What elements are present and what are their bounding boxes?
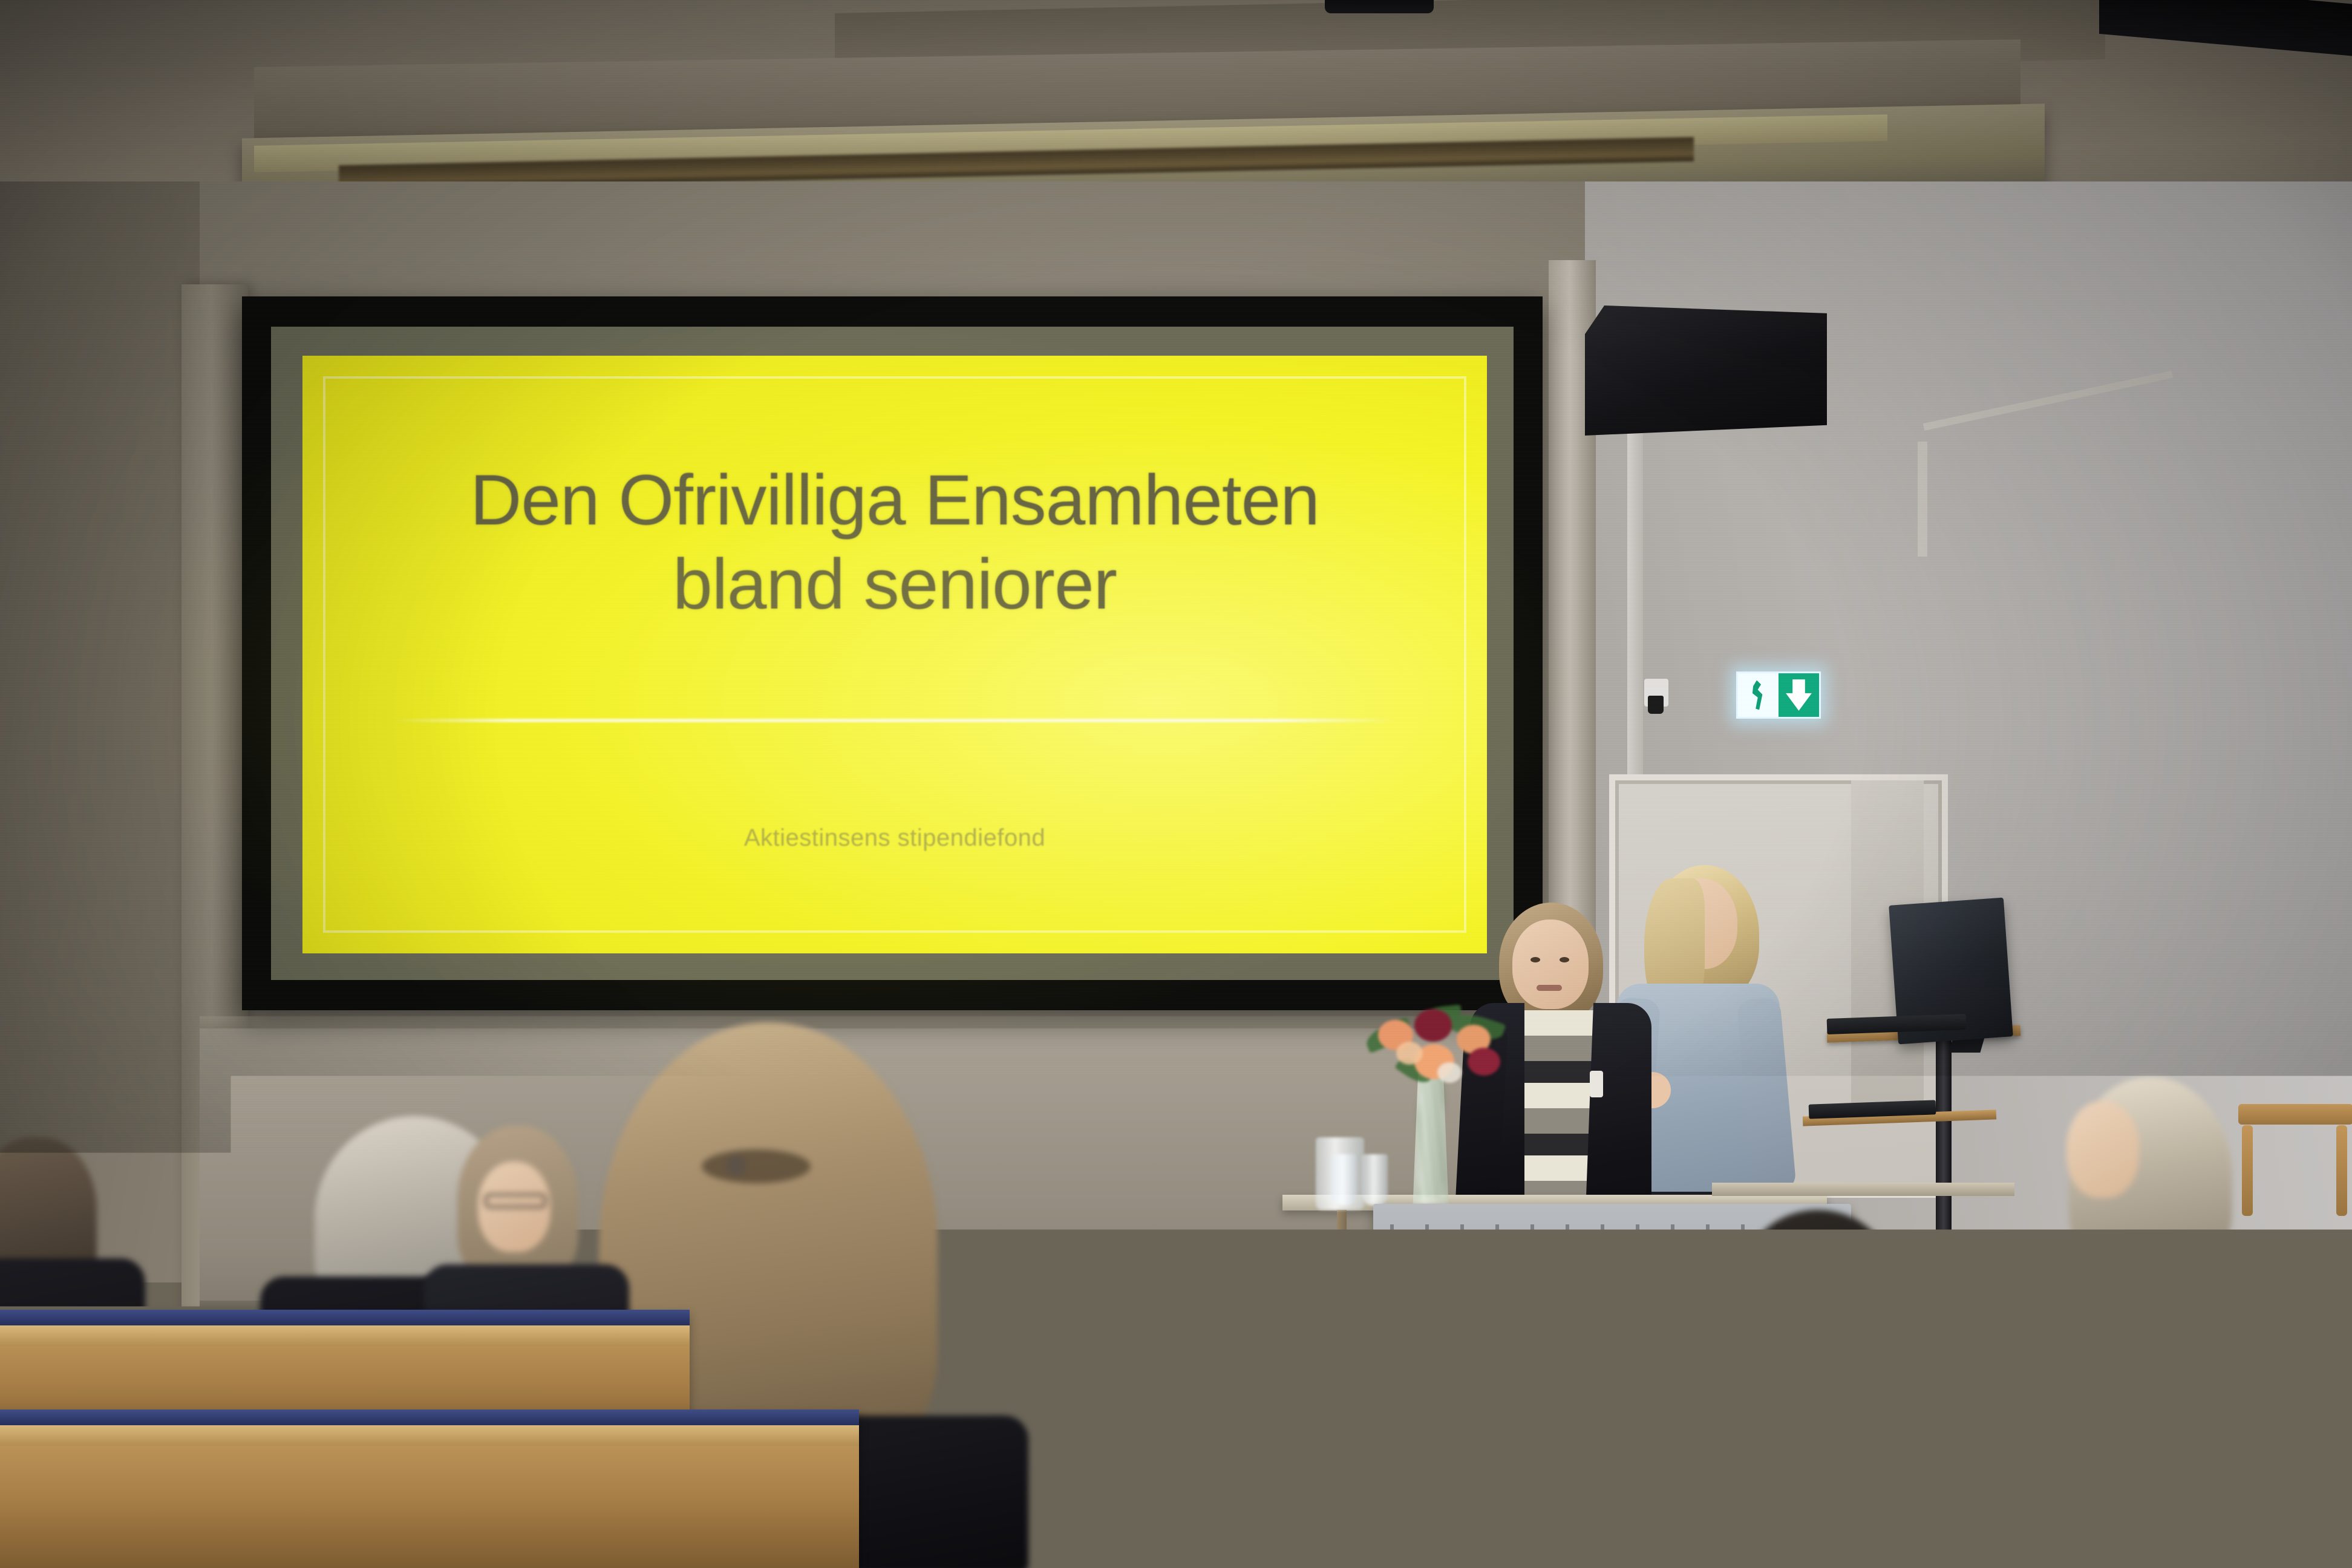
wall-outlet-icon [1644,679,1668,707]
drinking-glass[interactable] [1362,1154,1388,1205]
side-table [1712,1183,2014,1196]
projection-screen: Den Ofrivilliga Ensamheten bland seniore… [242,296,1543,1010]
presenter-left-mouth [1537,985,1562,991]
bench-rail [1561,1289,2352,1304]
wooden-chair-leg [2242,1125,2253,1216]
hair-clip-icon [726,1155,746,1176]
bench-row[interactable] [1645,1440,2352,1568]
emergency-exit-sign [1736,671,1821,719]
bench-rail [0,1310,690,1325]
slide-title-line-1: Den Ofrivilliga Ensamheten [430,459,1360,543]
bench-row[interactable] [363,1452,1174,1568]
wall-speaker [1585,305,1827,436]
wooden-chair-leg [2336,1125,2347,1216]
bench-wood [1561,1304,2352,1325]
bench-wood [363,1468,1174,1488]
presenter-left-eye [1530,957,1540,962]
presentation-slide: Den Ofrivilliga Ensamheten bland seniore… [302,356,1487,953]
glasses-icon [484,1193,547,1209]
exit-sign-arrow-pane [1779,673,1819,717]
slide-title: Den Ofrivilliga Ensamheten bland seniore… [302,459,1487,627]
wall-bracket [1918,442,1927,557]
bench-wood [1645,1455,2352,1476]
slide-title-line-2: bland seniorer [430,543,1360,627]
bench-rail [1603,1361,2352,1377]
drinking-glass[interactable] [1331,1154,1356,1205]
presenter-left-badge [1590,1071,1603,1097]
screen-surface: Den Ofrivilliga Ensamheten bland seniore… [271,327,1514,980]
flower-bouquet [1361,1004,1512,1095]
bench-rail [0,1410,859,1425]
slide-subtitle: Aktiestinsens stipendiefond [302,825,1487,852]
presenter-left-eye [1560,957,1569,962]
running-person-icon [1748,681,1766,710]
down-arrow-icon [1786,679,1812,711]
bench-wood [0,1325,690,1346]
wooden-chair-back[interactable] [2238,1104,2352,1125]
ceiling-fixture-stub [1325,0,1434,13]
hair-tie [702,1149,811,1183]
lecture-hall-photo: Den Ofrivilliga Ensamheten bland seniore… [0,0,2352,1568]
bench-wood [0,1425,859,1446]
presenter-left-head [1512,920,1589,1009]
bench-rail [363,1452,1174,1468]
bench-rail [1645,1440,2352,1455]
slide-divider [393,719,1396,722]
bench-wood [1603,1377,2352,1397]
exit-sign-person-pane [1738,673,1779,717]
